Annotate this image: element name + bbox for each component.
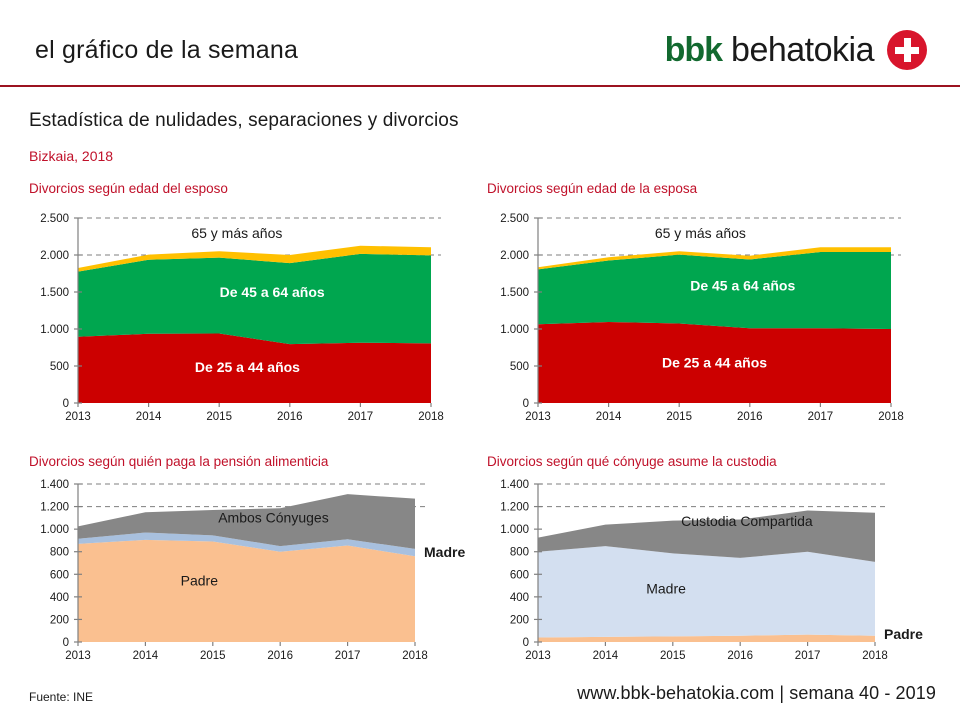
y-tick-label: 2.500 bbox=[500, 213, 529, 225]
chart-divorcios-pension-alimenticia: 02004006008001.0001.2001.400201320142015… bbox=[20, 474, 490, 669]
series-label-callout: Padre bbox=[884, 626, 923, 642]
x-tick-label: 2016 bbox=[737, 411, 763, 421]
bbk-behatokia-logo: bbk behatokia bbox=[665, 28, 927, 72]
chart1-svg: 05001.0001.5002.0002.5002013201420152016… bbox=[20, 206, 450, 421]
chart4-svg: 02004006008001.0001.2001.400201320142015… bbox=[480, 474, 950, 669]
chart3-svg: 02004006008001.0001.2001.400201320142015… bbox=[20, 474, 490, 669]
x-tick-label: 2014 bbox=[133, 650, 159, 662]
series-label: Padre bbox=[181, 573, 219, 589]
y-tick-label: 0 bbox=[523, 398, 529, 410]
y-tick-label: 1.400 bbox=[500, 479, 529, 491]
y-tick-label: 1.200 bbox=[40, 502, 69, 514]
y-tick-label: 1.500 bbox=[500, 287, 529, 299]
chart-title-pension: Divorcios según quién paga la pensión al… bbox=[29, 454, 328, 469]
chart-divorcios-custodia: 02004006008001.0001.2001.400201320142015… bbox=[480, 474, 950, 669]
x-tick-label: 2016 bbox=[277, 411, 303, 421]
chart-divorcios-edad-esposo: 05001.0001.5002.0002.5002013201420152016… bbox=[20, 206, 450, 421]
x-tick-label: 2016 bbox=[267, 650, 293, 662]
x-tick-label: 2013 bbox=[525, 650, 551, 662]
x-tick-label: 2018 bbox=[418, 411, 444, 421]
y-tick-label: 1.000 bbox=[500, 524, 529, 536]
x-tick-label: 2015 bbox=[660, 650, 686, 662]
x-tick-label: 2018 bbox=[878, 411, 904, 421]
y-tick-label: 1.000 bbox=[500, 324, 529, 336]
y-tick-label: 1.500 bbox=[40, 287, 69, 299]
x-tick-label: 2013 bbox=[525, 411, 551, 421]
cross-icon bbox=[887, 30, 927, 70]
y-tick-label: 600 bbox=[50, 569, 69, 581]
y-tick-label: 800 bbox=[510, 547, 529, 559]
x-tick-label: 2013 bbox=[65, 411, 91, 421]
series-label: 65 y más años bbox=[655, 225, 746, 241]
y-tick-label: 500 bbox=[510, 361, 529, 373]
y-tick-label: 2.000 bbox=[40, 250, 69, 262]
logo-name-text: behatokia bbox=[731, 33, 874, 67]
x-tick-label: 2015 bbox=[206, 411, 232, 421]
area-series bbox=[538, 546, 875, 637]
chart-title-custodia: Divorcios según qué cónyuge asume la cus… bbox=[487, 454, 777, 469]
y-tick-label: 600 bbox=[510, 569, 529, 581]
series-label: Madre bbox=[646, 580, 686, 596]
y-tick-label: 1.000 bbox=[40, 524, 69, 536]
y-tick-label: 200 bbox=[50, 614, 69, 626]
x-tick-label: 2017 bbox=[795, 650, 821, 662]
x-tick-label: 2013 bbox=[65, 650, 91, 662]
series-label-callout: Madre bbox=[424, 544, 465, 560]
y-tick-label: 800 bbox=[50, 547, 69, 559]
y-tick-label: 400 bbox=[510, 592, 529, 604]
chart-title-esposo: Divorcios según edad del esposo bbox=[29, 181, 228, 196]
series-label: De 45 a 64 años bbox=[690, 278, 795, 294]
x-tick-label: 2017 bbox=[808, 411, 834, 421]
header-divider bbox=[0, 85, 960, 87]
x-tick-label: 2015 bbox=[666, 411, 692, 421]
y-tick-label: 1.400 bbox=[40, 479, 69, 491]
y-tick-label: 200 bbox=[510, 614, 529, 626]
y-tick-label: 1.000 bbox=[40, 324, 69, 336]
y-tick-label: 500 bbox=[50, 361, 69, 373]
series-label: 65 y más años bbox=[191, 225, 282, 241]
page-title: el gráfico de la semana bbox=[35, 36, 298, 65]
x-tick-label: 2014 bbox=[136, 411, 162, 421]
series-label: De 25 a 44 años bbox=[662, 354, 767, 370]
report-title: Estadística de nulidades, separaciones y… bbox=[29, 110, 459, 132]
y-tick-label: 0 bbox=[63, 637, 69, 649]
x-tick-label: 2015 bbox=[200, 650, 226, 662]
y-tick-label: 2.000 bbox=[500, 250, 529, 262]
series-label: Custodia Compartida bbox=[681, 513, 813, 529]
report-subtitle: Bizkaia, 2018 bbox=[29, 148, 113, 164]
x-tick-label: 2017 bbox=[335, 650, 361, 662]
chart-divorcios-edad-esposa: 05001.0001.5002.0002.5002013201420152016… bbox=[480, 206, 910, 421]
y-tick-label: 1.200 bbox=[500, 502, 529, 514]
x-tick-label: 2018 bbox=[402, 650, 428, 662]
series-label: De 45 a 64 años bbox=[220, 284, 325, 300]
chart-title-esposa: Divorcios según edad de la esposa bbox=[487, 181, 697, 196]
footer-website: www.bbk-behatokia.com | semana 40 - 2019 bbox=[577, 683, 936, 704]
page-header: el gráfico de la semana bbk behatokia bbox=[0, 0, 960, 86]
footer-source: Fuente: INE bbox=[29, 690, 93, 704]
series-label: De 25 a 44 años bbox=[195, 359, 300, 375]
y-tick-label: 0 bbox=[523, 637, 529, 649]
area-series bbox=[78, 540, 415, 642]
x-tick-label: 2014 bbox=[596, 411, 622, 421]
cross-horizontal-bar bbox=[895, 47, 919, 54]
y-tick-label: 400 bbox=[50, 592, 69, 604]
y-tick-label: 2.500 bbox=[40, 213, 69, 225]
series-label: Ambos Cónyuges bbox=[218, 509, 329, 525]
x-tick-label: 2016 bbox=[727, 650, 753, 662]
x-tick-label: 2014 bbox=[593, 650, 619, 662]
x-tick-label: 2018 bbox=[862, 650, 888, 662]
x-tick-label: 2017 bbox=[348, 411, 374, 421]
chart2-svg: 05001.0001.5002.0002.5002013201420152016… bbox=[480, 206, 910, 421]
logo-brand-text: bbk bbox=[665, 33, 722, 67]
y-tick-label: 0 bbox=[63, 398, 69, 410]
